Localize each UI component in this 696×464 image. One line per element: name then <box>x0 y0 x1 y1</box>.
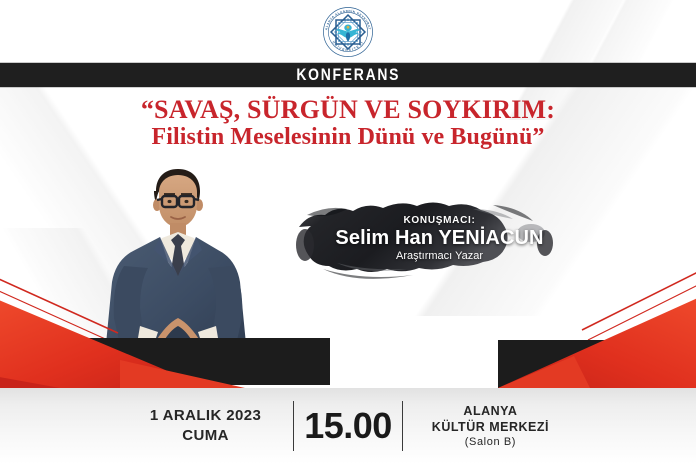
university-seal-icon: ALANYA ALAADDİN KEYKUBAT ÜNİVERSİTESİ <box>319 4 377 58</box>
event-date-line-1: 1 ARALIK 2023 <box>118 406 293 426</box>
event-time: 15.00 <box>294 408 402 444</box>
konferans-banner: KONFERANS <box>0 63 696 87</box>
speaker-brush-banner: KONUŞMACI: Selim Han YENİACUN Araştırmac… <box>293 193 558 283</box>
speaker-name: Selim Han YENİACUN <box>335 227 543 249</box>
event-details-footer: 1 ARALIK 2023 CUMA 15.00 ALANYA KÜLTÜR M… <box>0 388 696 464</box>
university-logo: ALANYA ALAADDİN KEYKUBAT ÜNİVERSİTESİ <box>319 4 377 58</box>
event-venue-line-1: ALANYA <box>403 403 578 419</box>
event-venue-line-2: KÜLTÜR MERKEZİ <box>403 419 578 435</box>
event-venue-hall: (Salon B) <box>403 435 578 449</box>
speaker-role-label: KONUŞMACI: <box>404 215 476 226</box>
speaker-photo <box>88 158 268 360</box>
speaker-info: KONUŞMACI: Selim Han YENİACUN Araştırmac… <box>293 193 558 283</box>
page-title-line-1: “SAVAŞ, SÜRGÜN VE SOYKIRIM: <box>0 96 696 124</box>
event-date-line-2: CUMA <box>118 426 293 446</box>
event-venue: ALANYA KÜLTÜR MERKEZİ (Salon B) <box>403 403 578 450</box>
event-time-group: 15.00 <box>293 401 403 451</box>
conference-poster: ALANYA ALAADDİN KEYKUBAT ÜNİVERSİTESİ KO… <box>0 0 696 464</box>
page-title-line-2: Filistin Meselesinin Dünü ve Bugünü” <box>0 125 696 151</box>
speaker-occupation: Araştırmacı Yazar <box>396 250 483 262</box>
event-date: 1 ARALIK 2023 CUMA <box>118 406 293 447</box>
page-title: “SAVAŞ, SÜRGÜN VE SOYKIRIM: Filistin Mes… <box>0 96 696 151</box>
konferans-banner-label: KONFERANS <box>296 65 400 85</box>
